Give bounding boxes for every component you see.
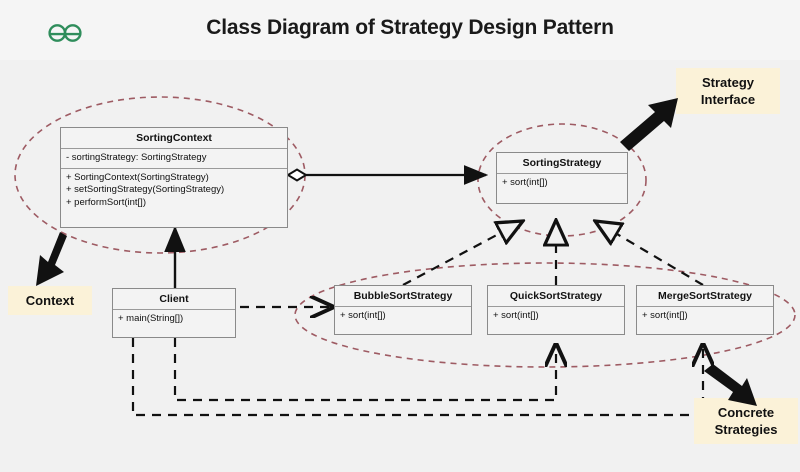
- merge-realization-connector: [595, 221, 703, 285]
- class-name-bubble-sort-strategy: BubbleSortStrategy: [335, 286, 471, 307]
- class-operations-client: + main(String[]): [113, 310, 235, 329]
- geeksforgeeks-logo-icon: [44, 20, 86, 46]
- aggregation-connector: [288, 170, 486, 181]
- callout-concrete-strategies-line1: Concrete: [702, 404, 790, 421]
- class-operations-merge-sort-strategy: + sort(int[]): [637, 307, 773, 326]
- class-operations-sorting-strategy: + sort(int[]): [497, 174, 627, 193]
- class-name-merge-sort-strategy: MergeSortStrategy: [637, 286, 773, 307]
- class-box-merge-sort-strategy[interactable]: MergeSortStrategy + sort(int[]): [636, 285, 774, 335]
- callout-strategy-interface-line2: Interface: [684, 91, 772, 108]
- callout-context: Context: [8, 286, 92, 315]
- callout-strategy-interface-line1: Strategy: [684, 74, 772, 91]
- class-operations-sorting-context: + SortingContext(SortingStrategy) + setS…: [61, 168, 287, 213]
- class-name-quick-sort-strategy: QuickSortStrategy: [488, 286, 624, 307]
- class-box-bubble-sort-strategy[interactable]: BubbleSortStrategy + sort(int[]): [334, 285, 472, 335]
- class-box-sorting-strategy[interactable]: SortingStrategy + sort(int[]): [496, 152, 628, 204]
- class-box-sorting-context[interactable]: SortingContext - sortingStrategy: Sortin…: [60, 127, 288, 228]
- class-operations-bubble-sort-strategy: + sort(int[]): [335, 307, 471, 326]
- client-merge-dependency: [133, 338, 703, 415]
- class-attributes-sorting-context: - sortingStrategy: SortingStrategy: [61, 149, 287, 168]
- strategy-interface-callout-arrow: [620, 98, 678, 151]
- callout-strategy-interface: Strategy Interface: [676, 68, 780, 114]
- callout-concrete-strategies: Concrete Strategies: [694, 398, 798, 444]
- class-box-quick-sort-strategy[interactable]: QuickSortStrategy + sort(int[]): [487, 285, 625, 335]
- class-name-client: Client: [113, 289, 235, 310]
- class-box-client[interactable]: Client + main(String[]): [112, 288, 236, 338]
- callout-context-label: Context: [16, 292, 84, 309]
- client-quick-dependency: [175, 338, 556, 400]
- bubble-realization-connector: [403, 221, 523, 285]
- class-name-sorting-strategy: SortingStrategy: [497, 153, 627, 174]
- class-operations-quick-sort-strategy: + sort(int[]): [488, 307, 624, 326]
- aggregation-diamond: [288, 170, 306, 181]
- class-name-sorting-context: SortingContext: [61, 128, 287, 149]
- page-title: Class Diagram of Strategy Design Pattern: [140, 16, 680, 40]
- diagram-canvas: Class Diagram of Strategy Design Pattern: [0, 0, 800, 472]
- context-callout-arrow: [36, 232, 67, 286]
- callout-concrete-strategies-line2: Strategies: [702, 421, 790, 438]
